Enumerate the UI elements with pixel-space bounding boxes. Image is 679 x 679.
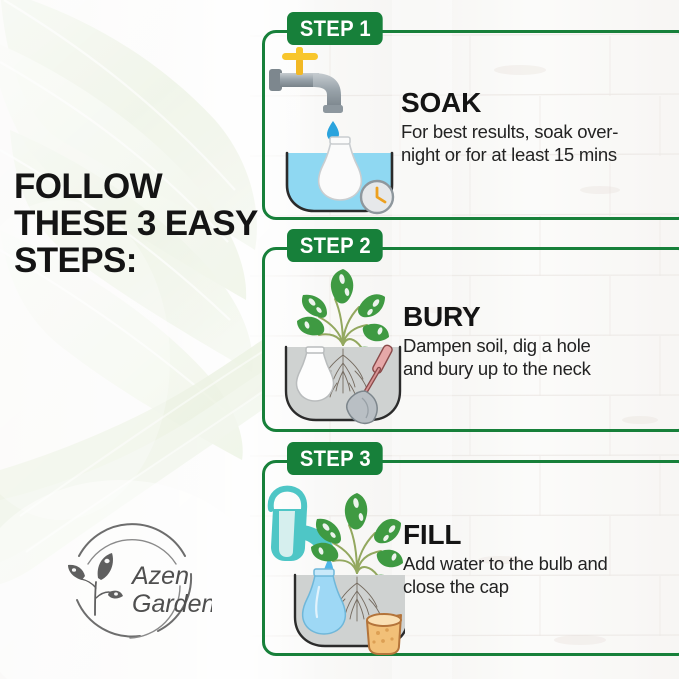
headline-line-2: THESE 3 EASY [14,205,260,242]
step-1-description: For best results, soak over- night or fo… [401,120,679,166]
step-1-desc-line-1: For best results, soak over- [401,120,679,143]
step-3-badge: STEP 3 [287,442,383,475]
step-card-2[interactable]: STEP 2 [262,247,679,432]
brand-name-line2: Garden [132,590,212,618]
step-1-illustration [265,33,405,217]
faucet-icon [269,47,343,113]
step-3-copy: FILL Add water to the bulb and close the… [403,463,679,653]
step-2-description: Dampen soil, dig a hole and bury up to t… [403,334,679,380]
left-panel: FOLLOW THESE 3 EASY STEPS: [0,0,262,679]
cup-icon [367,614,401,654]
step-3-desc-line-2: close the cap [403,575,679,598]
step-2-title: BURY [403,302,679,332]
step-1-title: SOAK [401,88,679,118]
clock-icon [361,181,393,213]
headline-line-3: STEPS: [14,242,260,279]
step-3-illustration [265,463,405,653]
brand-name-line1: Azen [130,562,189,590]
headline-line-1: FOLLOW [14,168,260,205]
step-1-copy: SOAK For best results, soak over- night … [401,33,679,217]
step-2-badge: STEP 2 [287,229,383,262]
step-card-3[interactable]: STEP 3 [262,460,679,656]
step-3-title: FILL [403,520,679,550]
step-2-desc-line-2: and bury up to the neck [403,357,679,380]
step-1-desc-line-2: night or for at least 15 mins [401,143,679,166]
plant-sprout-icon [68,553,123,615]
step-3-description: Add water to the bulb and close the cap [403,552,679,598]
step-2-illustration [265,250,405,429]
step-1-badge: STEP 1 [287,12,383,45]
step-3-desc-line-1: Add water to the bulb and [403,552,679,575]
step-card-1[interactable]: STEP 1 [262,30,679,220]
step-2-copy: BURY Dampen soil, dig a hole and bury up… [403,250,679,429]
brand-logo: Azen Garden [52,512,212,652]
bulb-icon [319,137,362,200]
step-2-desc-line-1: Dampen soil, dig a hole [403,334,679,357]
page-title: FOLLOW THESE 3 EASY STEPS: [14,168,260,279]
